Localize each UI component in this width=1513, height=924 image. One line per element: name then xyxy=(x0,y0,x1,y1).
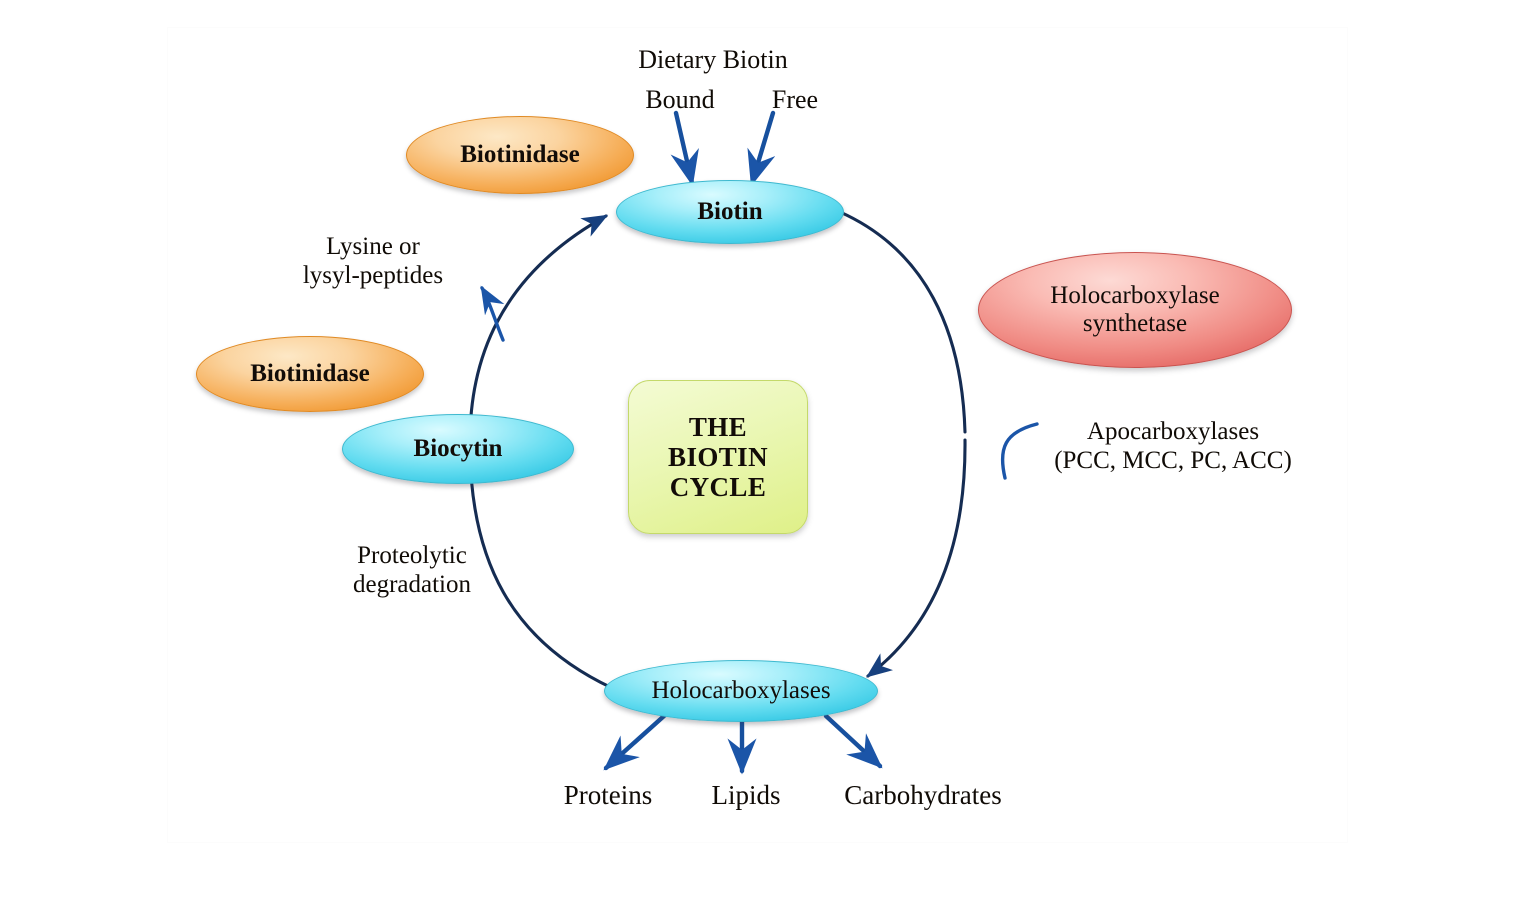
enzyme-holocarboxylase-synthetase[interactable]: Holocarboxylase synthetase xyxy=(978,252,1292,368)
node-holocarboxylases[interactable]: Holocarboxylases xyxy=(604,660,878,722)
node-biocytin[interactable]: Biocytin xyxy=(342,414,574,484)
dietary-biotin-heading: Dietary Biotin xyxy=(598,45,828,75)
label-lysine-line2: lysyl-peptides xyxy=(268,262,478,291)
label-proteolytic-line1: Proteolytic xyxy=(312,542,512,571)
label-lysine-lysyl-peptides: Lysine or lysyl-peptides xyxy=(268,233,478,290)
output-carbohydrates: Carbohydrates xyxy=(812,780,1034,811)
enzyme-biotinidase-left-label: Biotinidase xyxy=(250,360,369,388)
output-lipids: Lipids xyxy=(686,780,806,811)
center-box-line3: CYCLE xyxy=(670,472,767,502)
free-label: Free xyxy=(715,85,875,115)
node-biotin-label: Biotin xyxy=(697,198,762,226)
enzyme-biotinidase-top[interactable]: Biotinidase xyxy=(406,116,634,194)
node-holocarboxylases-label: Holocarboxylases xyxy=(651,677,830,705)
label-proteolytic-line2: degradation xyxy=(312,571,512,600)
enzyme-biotinidase-top-label: Biotinidase xyxy=(460,141,579,169)
enzyme-hcs-line2: synthetase xyxy=(1083,310,1187,338)
enzyme-hcs-line1: Holocarboxylase xyxy=(1050,282,1219,310)
node-biotin[interactable]: Biotin xyxy=(616,180,844,244)
center-box-biotin-cycle: THE BIOTIN CYCLE xyxy=(628,380,808,534)
center-box-line1: THE xyxy=(689,412,747,442)
center-box-line2: BIOTIN xyxy=(668,442,768,472)
label-lysine-line1: Lysine or xyxy=(268,233,478,262)
diagram-canvas: Dietary Biotin Bound Free Biotinidase Bi… xyxy=(0,0,1513,924)
label-proteolytic-degradation: Proteolytic degradation xyxy=(312,542,512,599)
label-apocarboxylases-line2: (PCC, MCC, PC, ACC) xyxy=(1022,447,1324,476)
node-biocytin-label: Biocytin xyxy=(414,435,503,463)
enzyme-biotinidase-left[interactable]: Biotinidase xyxy=(196,336,424,412)
label-apocarboxylases-line1: Apocarboxylases xyxy=(1022,418,1324,447)
output-proteins: Proteins xyxy=(528,780,688,811)
label-apocarboxylases: Apocarboxylases (PCC, MCC, PC, ACC) xyxy=(1022,418,1324,475)
